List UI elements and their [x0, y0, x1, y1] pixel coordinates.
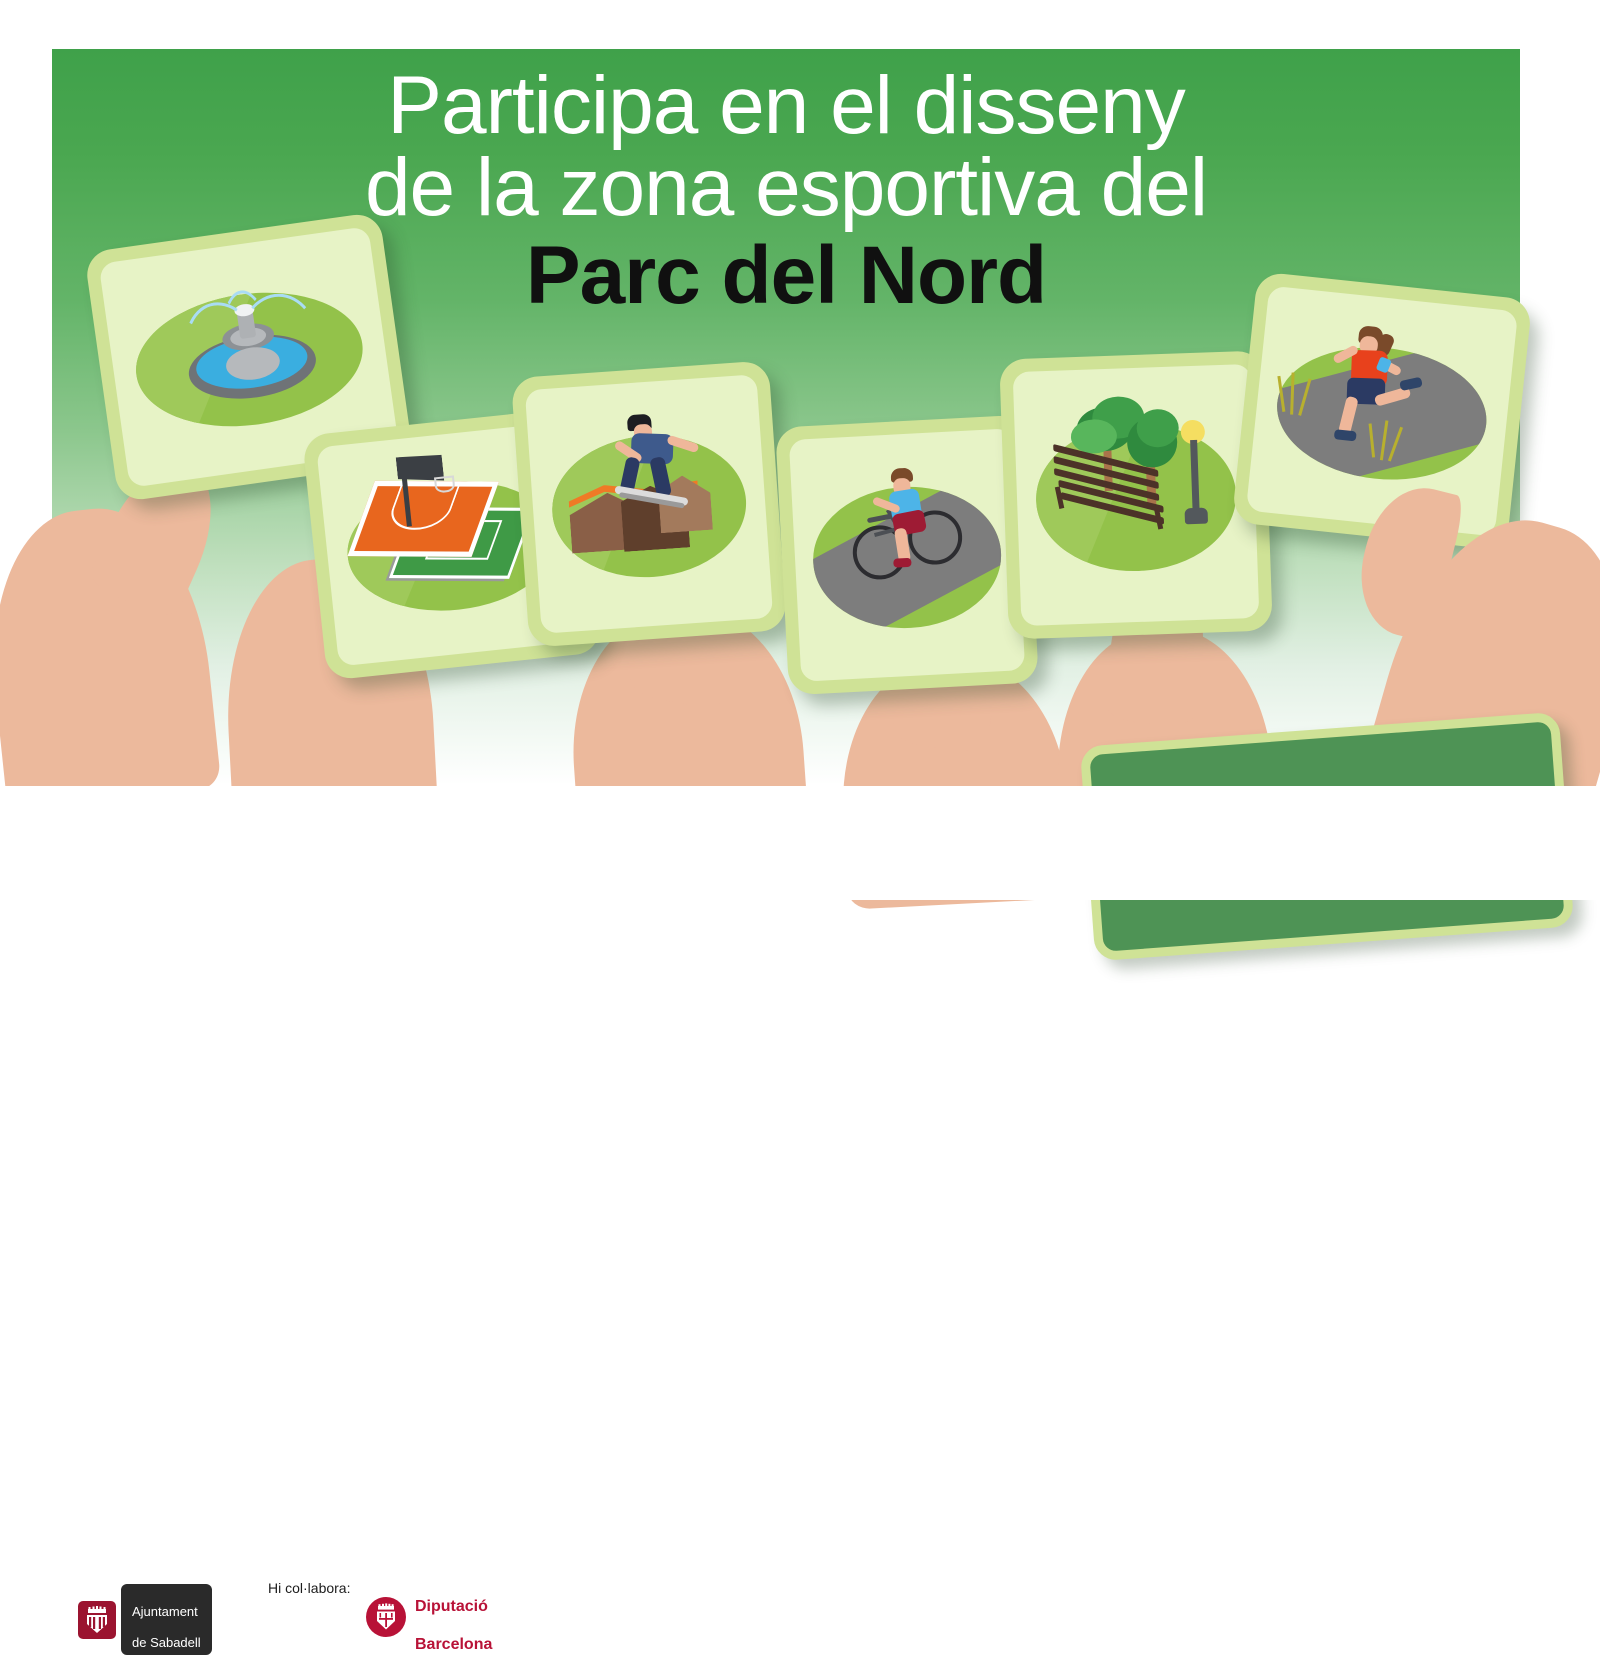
headline-line-2: de la zona esportiva del [52, 147, 1520, 229]
ajuntament-sabadell-logo[interactable]: Ajuntament de Sabadell [78, 1584, 212, 1655]
diputacio-crest-icon [366, 1597, 406, 1637]
diputacio-name: Diputació Barcelona [415, 1579, 492, 1655]
cyclist-shoe [893, 558, 911, 568]
sabadell-name-line-1: Ajuntament [132, 1604, 198, 1619]
park-bench-illustration [1039, 389, 1225, 565]
diputacio-name-line-2: Barcelona [415, 1636, 492, 1653]
hand-left-outer [0, 449, 222, 789]
collaborator-label: Hi col·labora: [268, 1580, 350, 1596]
card-cyclist[interactable] [775, 415, 1039, 696]
skate-ramp-illustration [557, 406, 738, 577]
diputacio-name-line-1: Diputació [415, 1598, 488, 1615]
headline-line-1: Participa en el disseny [52, 65, 1520, 147]
sabadell-name-line-2: de Sabadell [132, 1635, 201, 1650]
fountain-illustration [173, 283, 328, 421]
footer-bar: Ajuntament de Sabadell Hi col·labora: Di… [0, 786, 1600, 900]
lamp-post [1190, 440, 1200, 514]
card-bench-trees[interactable] [999, 350, 1273, 639]
diputacio-barcelona-logo[interactable]: Diputació Barcelona [366, 1579, 492, 1655]
reed-grass-right-3 [1388, 427, 1403, 462]
sabadell-name-plate: Ajuntament de Sabadell [121, 1584, 212, 1655]
cyclist-illustration [843, 466, 980, 603]
card-skate-ramp[interactable] [511, 360, 787, 647]
runner-shoe-back [1399, 377, 1423, 391]
runner-illustration [1324, 323, 1457, 465]
card-cyclist-face [789, 428, 1025, 681]
sports-courts-illustration [347, 450, 541, 608]
sabadell-crest-icon [78, 1601, 116, 1639]
reed-grass-right-2 [1380, 420, 1389, 460]
card-bench-face [1013, 364, 1260, 626]
runner-shoe-front [1334, 429, 1357, 441]
poster-banner: Participa en el disseny de la zona espor… [52, 49, 1520, 785]
reed-grass-right-1 [1369, 423, 1376, 457]
lamp-base [1184, 508, 1208, 525]
card-skate-face [525, 374, 773, 634]
